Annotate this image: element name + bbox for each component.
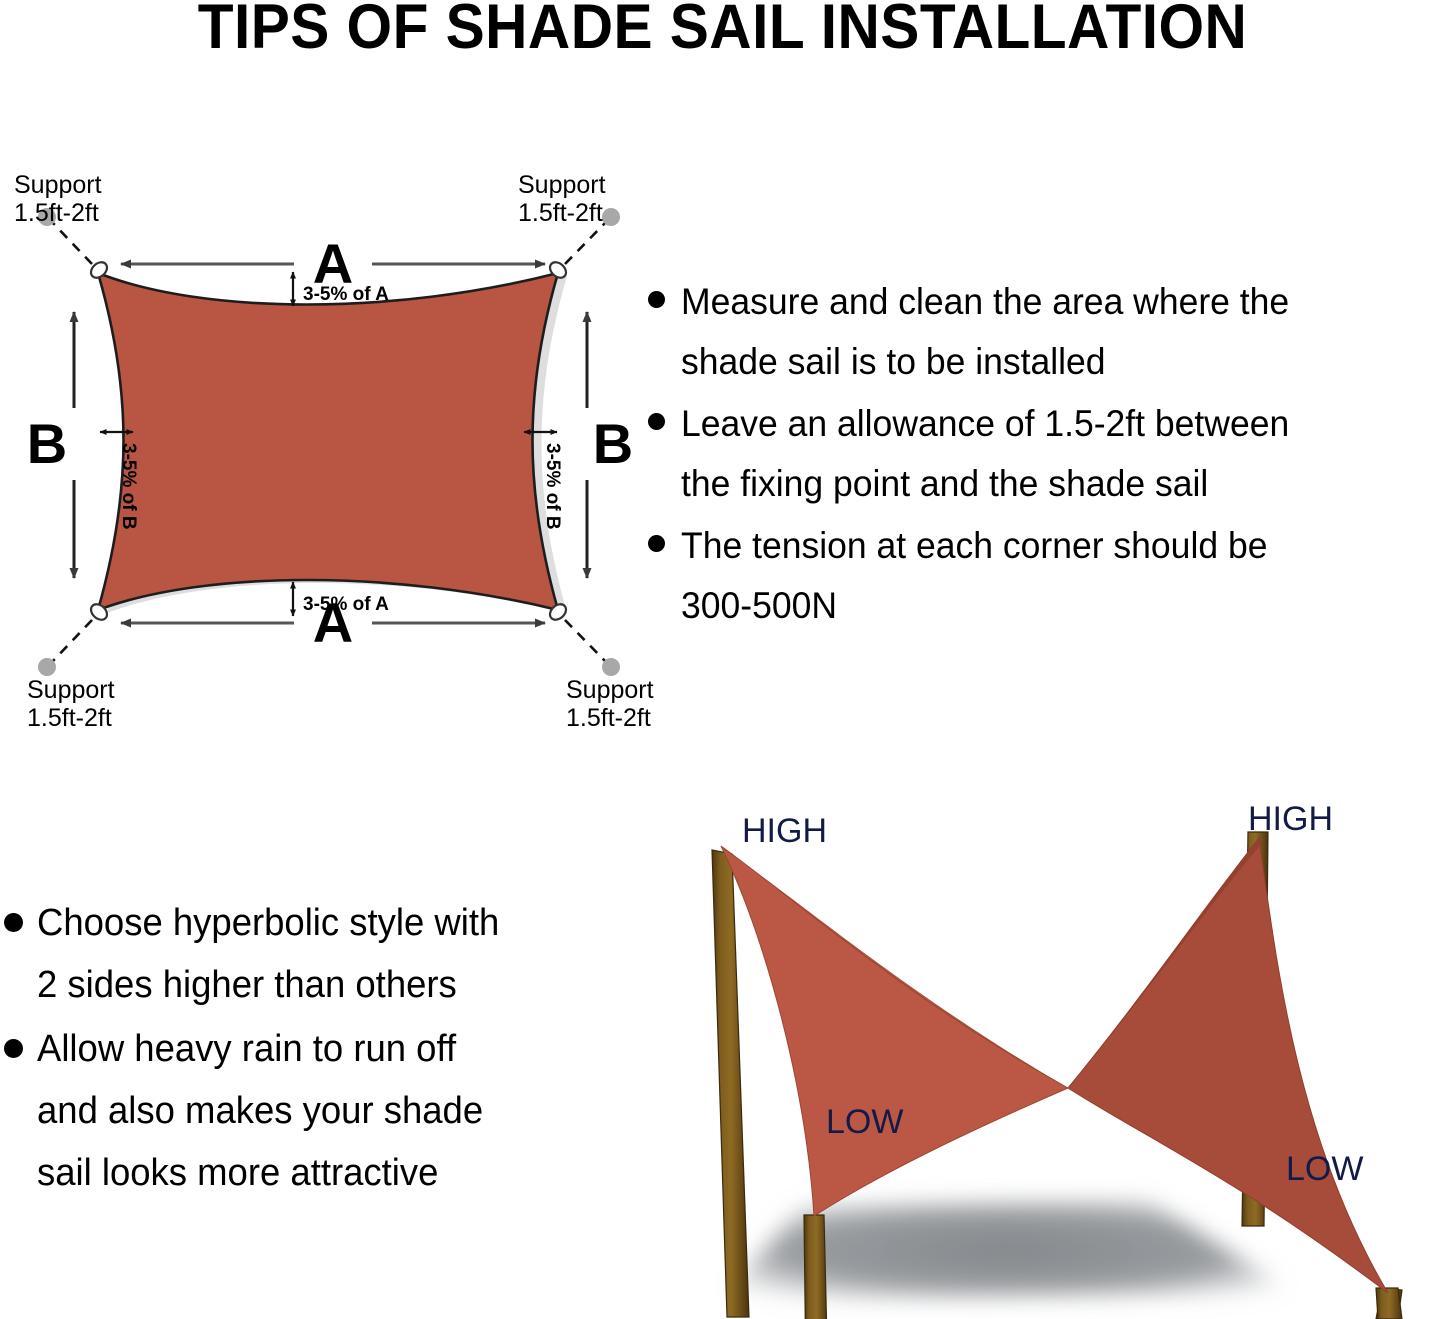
tip-text: The tension at each corner should be 300… bbox=[681, 516, 1267, 636]
bullet-point-icon bbox=[648, 291, 665, 308]
bullet-point-icon bbox=[4, 913, 23, 932]
curve-label-bottom: 3-5% of A bbox=[303, 594, 389, 615]
label-low-left: LOW bbox=[826, 1103, 903, 1141]
support-dot-top-right bbox=[602, 208, 620, 226]
list-item: Leave an allowance of 1.5-2ft between th… bbox=[648, 394, 1445, 514]
support-label-top-right-line2: 1.5ft-2ft bbox=[518, 199, 603, 227]
post-high-left bbox=[712, 850, 749, 1317]
tips-list-left: Choose hyperbolic style with 2 sides hig… bbox=[4, 893, 624, 1207]
label-high-left: HIGH bbox=[742, 812, 827, 850]
support-dot-bottom-left bbox=[38, 658, 56, 676]
hyperbolic-sail-svg: HIGH HIGH LOW LOW bbox=[676, 788, 1445, 1319]
tip-text: Leave an allowance of 1.5-2ft between th… bbox=[681, 394, 1289, 514]
rectangular-sail-diagram: A A B B 3-5% of A 3-5% of A 3-5% of B 3-… bbox=[0, 160, 680, 730]
bullet-point-icon bbox=[648, 535, 665, 552]
sail-wing-front bbox=[721, 846, 1068, 1216]
tips-list-right: Measure and clean the area where the sha… bbox=[648, 272, 1445, 638]
support-dot-bottom-right bbox=[602, 658, 620, 676]
post-low-right-lower bbox=[1376, 1288, 1402, 1319]
support-label-bottom-left-line2: 1.5ft-2ft bbox=[27, 704, 112, 730]
support-label-bottom-left-line1: Support bbox=[27, 676, 115, 704]
label-low-right: LOW bbox=[1286, 1150, 1363, 1188]
bullet-point-icon bbox=[4, 1039, 23, 1058]
support-label-top-left-line1: Support bbox=[14, 171, 102, 199]
dimension-label-b-left: B bbox=[27, 412, 67, 475]
support-label-top-left-line2: 1.5ft-2ft bbox=[14, 199, 99, 227]
support-label-bottom-right-line2: 1.5ft-2ft bbox=[566, 704, 651, 730]
page-title: TIPS OF SHADE SAIL INSTALLATION bbox=[51, 0, 1395, 60]
curve-label-right: 3-5% of B bbox=[542, 443, 563, 530]
rect-sail-svg: A A B B 3-5% of A 3-5% of A 3-5% of B 3-… bbox=[0, 160, 680, 730]
curve-label-left: 3-5% of B bbox=[118, 443, 139, 530]
post-low-left bbox=[804, 1215, 828, 1319]
tip-text: Measure and clean the area where the sha… bbox=[681, 272, 1289, 392]
bullet-point-icon bbox=[648, 413, 665, 430]
list-item: The tension at each corner should be 300… bbox=[648, 516, 1445, 636]
hyperbolic-sail-diagram: HIGH HIGH LOW LOW bbox=[676, 788, 1445, 1319]
list-item: Measure and clean the area where the sha… bbox=[648, 272, 1445, 392]
list-item: Allow heavy rain to run off and also mak… bbox=[4, 1019, 624, 1205]
support-label-top-right-line1: Support bbox=[518, 171, 606, 199]
support-label-bottom-right-line1: Support bbox=[566, 676, 654, 704]
label-high-right: HIGH bbox=[1248, 800, 1333, 838]
sail-fabric bbox=[98, 273, 558, 610]
dimension-label-b-right: B bbox=[593, 412, 633, 475]
list-item: Choose hyperbolic style with 2 sides hig… bbox=[4, 893, 624, 1017]
tip-text: Choose hyperbolic style with 2 sides hig… bbox=[37, 893, 499, 1017]
curve-label-top: 3-5% of A bbox=[303, 284, 389, 305]
tip-text: Allow heavy rain to run off and also mak… bbox=[37, 1019, 483, 1205]
